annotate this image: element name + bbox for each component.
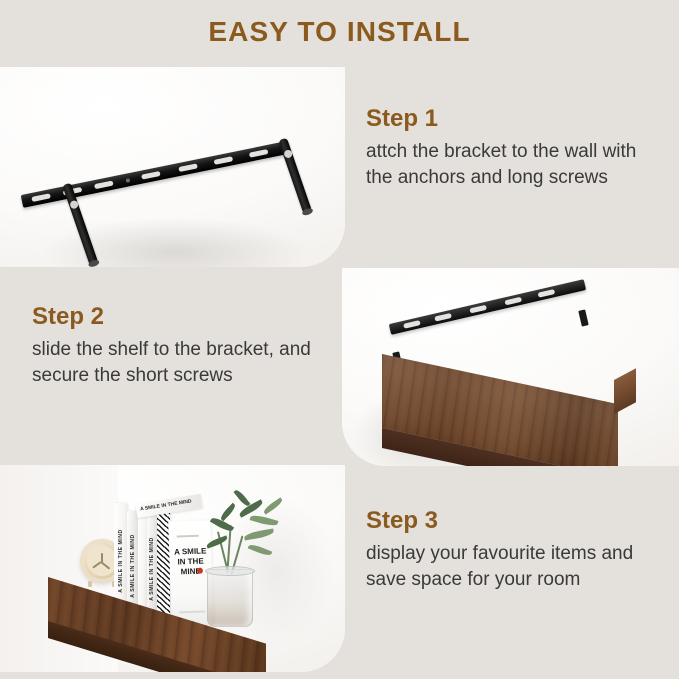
step-1-body: attch the bracket to the wall with the a… <box>366 139 666 191</box>
bracket-slot <box>178 163 198 172</box>
bracket-slot <box>504 297 522 306</box>
bracket-slot <box>403 320 421 329</box>
step-3-body: display your favourite items and save sp… <box>366 541 666 593</box>
step-1-text-block: Step 1 attch the bracket to the wall wit… <box>366 104 666 191</box>
bracket-slot <box>469 305 487 314</box>
infographic-page: EASY TO INSTALL <box>0 0 679 679</box>
book-cover-rule <box>177 535 199 538</box>
step-3-image-panel: A SMILE IN THE MIND A SMILE IN THE MIND … <box>0 465 345 672</box>
book-spine-label: A SMILE IN THE MIND <box>130 534 136 598</box>
step-2-heading: Step 2 <box>32 302 332 332</box>
bracket-photo <box>0 67 345 267</box>
bracket-slot <box>538 289 556 298</box>
clock-foot <box>88 581 92 587</box>
book-cover-rule <box>179 611 205 614</box>
glass-jar-vase <box>207 569 253 627</box>
step-3-text-block: Step 3 display your favourite items and … <box>366 506 666 593</box>
bracket-slot <box>31 193 51 202</box>
page-title: EASY TO INSTALL <box>0 16 679 48</box>
bracket-slot <box>213 156 233 165</box>
bracket-slot <box>249 149 269 158</box>
shelf-bracket-photo <box>342 268 679 466</box>
styled-shelf-photo: A SMILE IN THE MIND A SMILE IN THE MIND … <box>0 465 345 672</box>
step-1-image-panel <box>0 67 345 267</box>
step-2-body: slide the shelf to the bracket, and secu… <box>32 337 332 389</box>
step-2-image-panel <box>342 268 679 466</box>
step-2-text-block: Step 2 slide the shelf to the bracket, a… <box>32 302 332 389</box>
bracket-screw-knob <box>69 200 79 210</box>
bracket-slot <box>141 170 161 179</box>
step-3-heading: Step 3 <box>366 506 666 536</box>
step-1-heading: Step 1 <box>366 104 666 134</box>
bracket-slot <box>94 180 114 189</box>
book-spine-label: A SMILE IN THE MIND <box>149 537 155 601</box>
book-spine-label: A SMILE IN THE MIND <box>118 529 124 593</box>
bracket-center-hole <box>125 178 130 183</box>
glass-jar-rim <box>205 566 255 576</box>
bracket-slot <box>434 313 452 322</box>
bracket-screw-knob <box>283 149 293 159</box>
